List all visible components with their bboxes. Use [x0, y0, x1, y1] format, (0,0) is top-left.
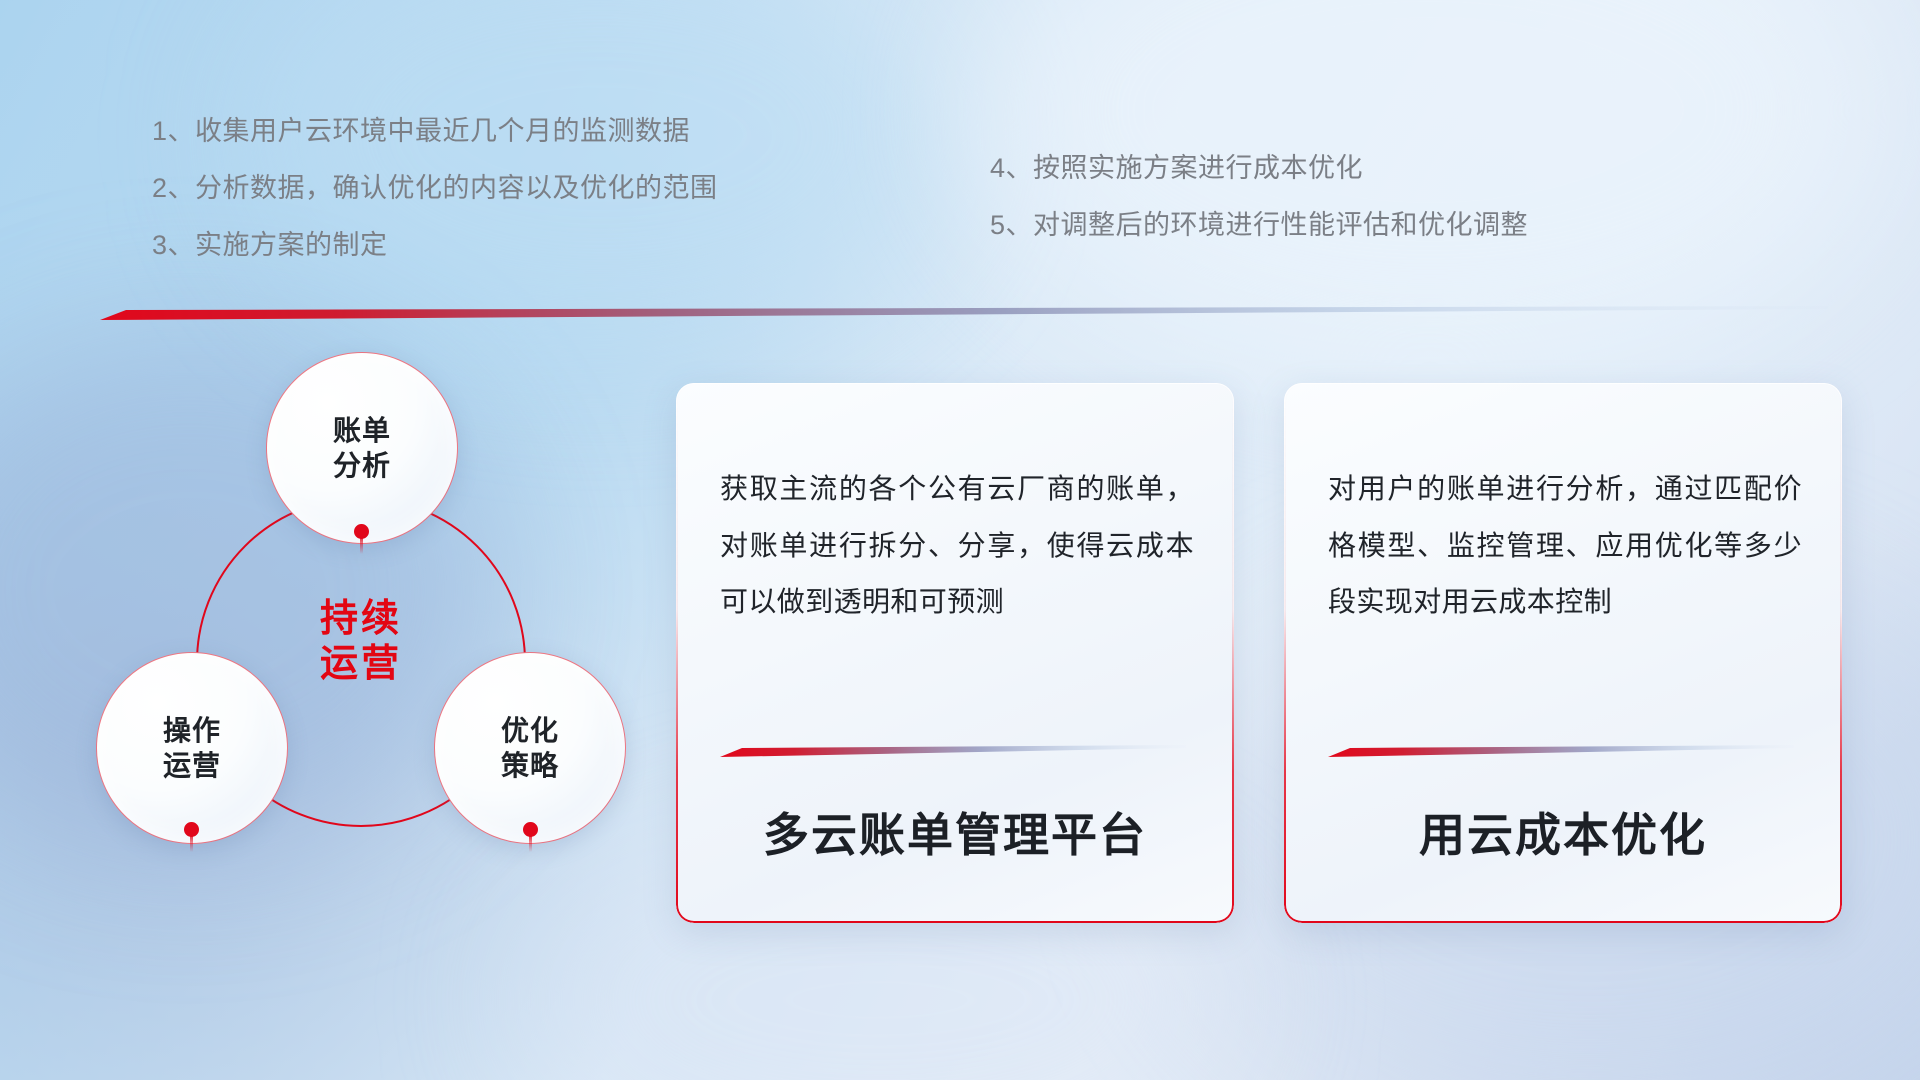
diagram-bubble-bill-analysis[interactable]: 账单 分析 [266, 352, 458, 544]
card-title: 用云成本优化 [1284, 799, 1842, 865]
process-steps-right-column: 4、按照实施方案进行成本优化 5、对调整后的环境进行性能评估和优化调整 [990, 155, 1528, 239]
bubble-label-line-2: 运营 [163, 748, 221, 783]
diagram-node-dot-icon [523, 822, 538, 837]
feature-card-multicloud-billing[interactable]: 获取主流的各个公有云厂商的账单，对账单进行拆分、分享，使得云成本可以做到透明和可… [676, 383, 1234, 923]
card-description-text: 对用户的账单进行分析，通过匹配价格模型、监控管理、应用优化等多少段实现对用云成本… [1328, 461, 1802, 631]
process-step-item: 1、收集用户云环境中最近几个月的监测数据 [152, 118, 718, 145]
feature-card-cloud-cost-optimization[interactable]: 对用户的账单进行分析，通过匹配价格模型、监控管理、应用优化等多少段实现对用云成本… [1284, 383, 1842, 923]
diagram-bubble-operation[interactable]: 操作 运营 [96, 652, 288, 844]
diagram-bubble-optimization-strategy[interactable]: 优化 策略 [434, 652, 626, 844]
card-description-text: 获取主流的各个公有云厂商的账单，对账单进行拆分、分享，使得云成本可以做到透明和可… [720, 461, 1194, 631]
card-title: 多云账单管理平台 [676, 799, 1234, 865]
bubble-label-line-2: 策略 [501, 748, 559, 783]
card-divider-line [720, 745, 1186, 758]
center-label-line-1: 持续 [320, 598, 402, 640]
bubble-label-line-1: 账单 [333, 413, 391, 448]
process-step-item: 4、按照实施方案进行成本优化 [990, 155, 1528, 182]
process-step-item: 5、对调整后的环境进行性能评估和优化调整 [990, 212, 1528, 239]
slide-canvas: 1、收集用户云环境中最近几个月的监测数据 2、分析数据，确认优化的内容以及优化的… [0, 0, 1920, 1080]
card-divider-line [1328, 745, 1794, 758]
process-step-item: 3、实施方案的制定 [152, 232, 718, 259]
bubble-label-line-1: 优化 [501, 713, 559, 748]
diagram-node-dot-icon [184, 822, 199, 837]
section-divider-line [100, 306, 1828, 322]
bubble-label-line-2: 分析 [333, 448, 391, 483]
center-label-line-2: 运营 [320, 643, 402, 685]
diagram-node-dot-icon [354, 524, 369, 539]
continuous-operation-diagram: 持续 运营 账单 分析 操作 运营 优化 策略 [96, 352, 656, 932]
process-steps-left-column: 1、收集用户云环境中最近几个月的监测数据 2、分析数据，确认优化的内容以及优化的… [152, 118, 718, 259]
process-step-item: 2、分析数据，确认优化的内容以及优化的范围 [152, 175, 718, 202]
bubble-label-line-1: 操作 [163, 713, 221, 748]
